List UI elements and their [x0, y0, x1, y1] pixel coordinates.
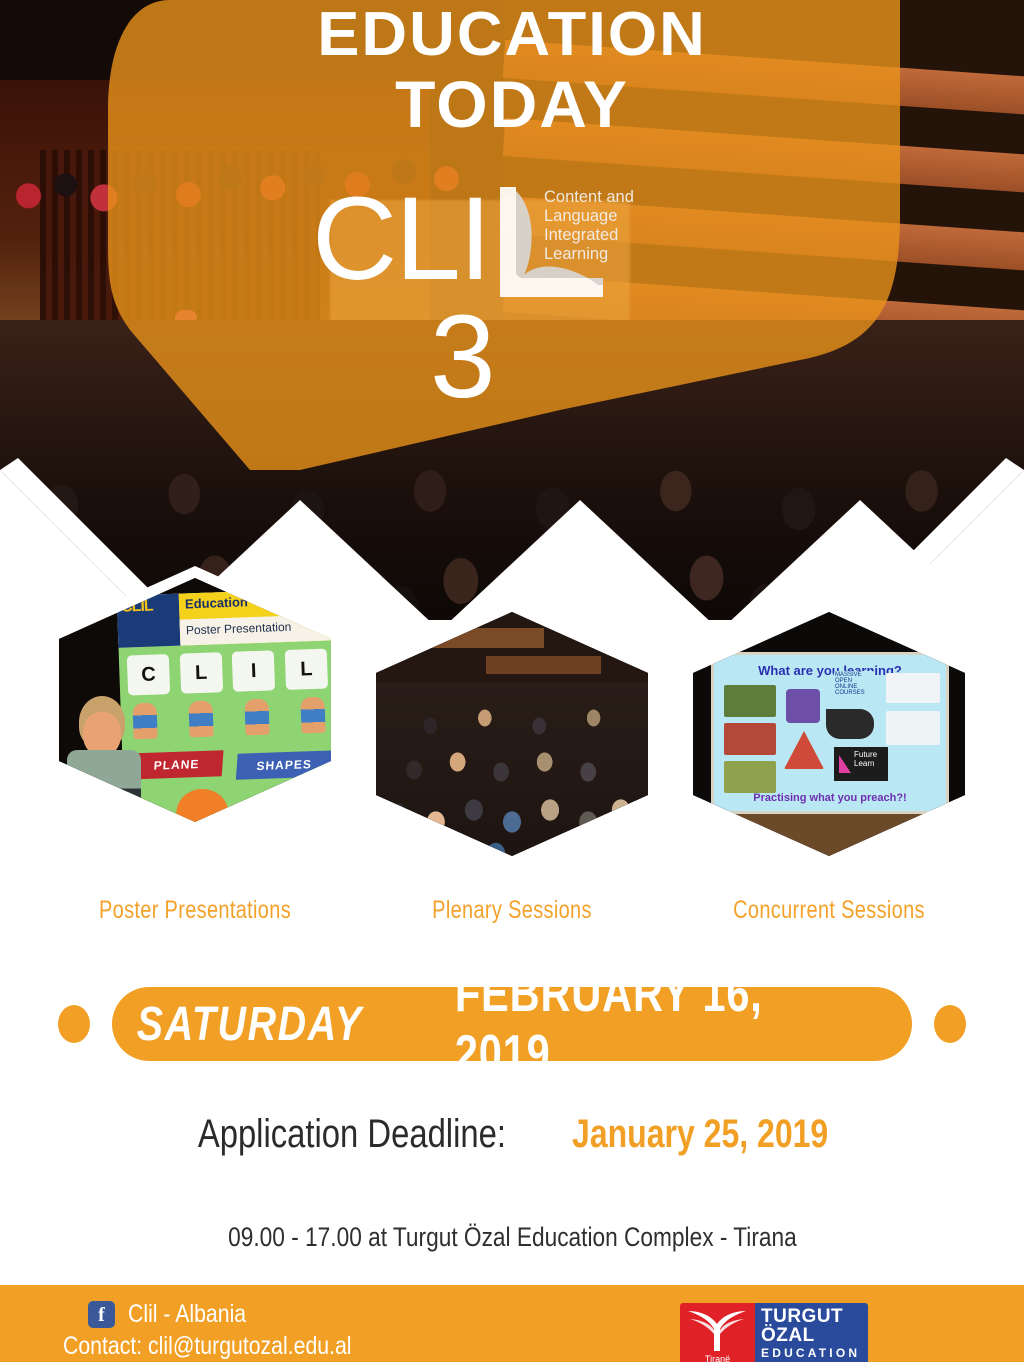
board-kid-figures — [132, 697, 325, 740]
board-letter: L — [179, 652, 222, 693]
facebook-icon[interactable]: f — [88, 1301, 115, 1328]
deadline-date: January 25, 2019 — [572, 1112, 828, 1157]
poster-root: EDUCATION TODAY CLI Content and Language… — [0, 0, 1024, 1362]
tagline-line-3: Integrated — [544, 226, 634, 245]
board-letter: I — [232, 650, 275, 691]
sponsor-logo-mark: Tiranë — [680, 1303, 755, 1362]
board-letters: C L I L — [127, 649, 328, 696]
contact-email[interactable]: Contact: clil@turgutozal.edu.al — [63, 1332, 402, 1361]
footer-bar: f Clil - Albania Contact: clil@turgutoza… — [0, 1285, 1024, 1362]
board-letter: L — [285, 649, 328, 690]
futurelearn-badge: Future Learn — [834, 747, 888, 781]
bullet-dot-right — [934, 1005, 966, 1043]
hexagon-plenary-sessions[interactable] — [363, 600, 661, 868]
slide-footer: Practising what you preach?! — [714, 792, 946, 804]
facebook-row[interactable]: f Clil - Albania — [88, 1300, 267, 1329]
headline-today: TODAY — [0, 70, 1024, 139]
caption-concurrent-sessions: Concurrent Sessions — [697, 896, 961, 925]
hexagon-poster-presentations[interactable]: CLIL Education Poster Presentation C L I… — [46, 566, 344, 834]
projection-screen: What are you learning? MASSIVE OPEN ONLI… — [711, 652, 949, 814]
date-pill: SATURDAY FEBRUARY 16, 2019 — [112, 987, 912, 1061]
facebook-page-label: Clil - Albania — [128, 1300, 267, 1329]
book-tree-icon — [680, 1303, 755, 1355]
sponsor-logo-turgut-ozal[interactable]: Tiranë TURGUT ÖZAL EDUCATION COMPANY — [680, 1303, 868, 1362]
futurelearn-line-1: Future — [854, 750, 877, 759]
tagline-line-4: Learning — [544, 245, 634, 264]
bullet-dot-left — [58, 1005, 90, 1043]
deadline-label: Application Deadline: — [198, 1112, 506, 1157]
sponsor-logo-text: TURGUT ÖZAL EDUCATION COMPANY — [755, 1303, 868, 1362]
hexagon-concurrent-sessions[interactable]: What are you learning? MASSIVE OPEN ONLI… — [680, 600, 978, 868]
date-weekday: SATURDAY — [137, 997, 363, 1052]
clil-tagline: Content and Language Integrated Learning — [544, 188, 634, 265]
hexagon-gallery: CLIL Education Poster Presentation C L I… — [0, 560, 1024, 870]
sponsor-name: TURGUT ÖZAL — [761, 1307, 868, 1345]
clil-logo: CLI Content and Language Integrated Lear… — [0, 180, 1024, 420]
caption-plenary-sessions: Plenary Sessions — [380, 896, 644, 925]
caption-poster-presentations: Poster Presentations — [63, 896, 327, 925]
headline-education: EDUCATION — [0, 4, 1024, 66]
clil-wordmark: CLI — [312, 180, 490, 298]
edition-number: 3 — [430, 298, 496, 416]
board-letter: C — [127, 654, 170, 695]
tagline-line-1: Content and — [544, 188, 634, 207]
date-full: FEBRUARY 16, 2019 — [454, 964, 861, 1084]
board-tag-plane: PLANE — [130, 750, 224, 779]
venue-line: 09.00 - 17.00 at Turgut Özal Education C… — [0, 1222, 1024, 1253]
sponsor-sub-1: EDUCATION — [761, 1345, 868, 1361]
event-date-banner: SATURDAY FEBRUARY 16, 2019 — [0, 985, 1024, 1063]
application-deadline: Application Deadline: January 25, 2019 — [0, 1112, 1024, 1157]
hexagon-captions: Poster Presentations Plenary Sessions Co… — [0, 896, 1024, 932]
futurelearn-line-2: Learn — [854, 759, 874, 768]
tagline-line-2: Language — [544, 207, 634, 226]
venue-text: 09.00 - 17.00 at Turgut Özal Education C… — [228, 1222, 797, 1253]
sponsor-mark-caption: Tiranë — [680, 1354, 755, 1362]
headline-block: EDUCATION TODAY — [0, 0, 1024, 139]
